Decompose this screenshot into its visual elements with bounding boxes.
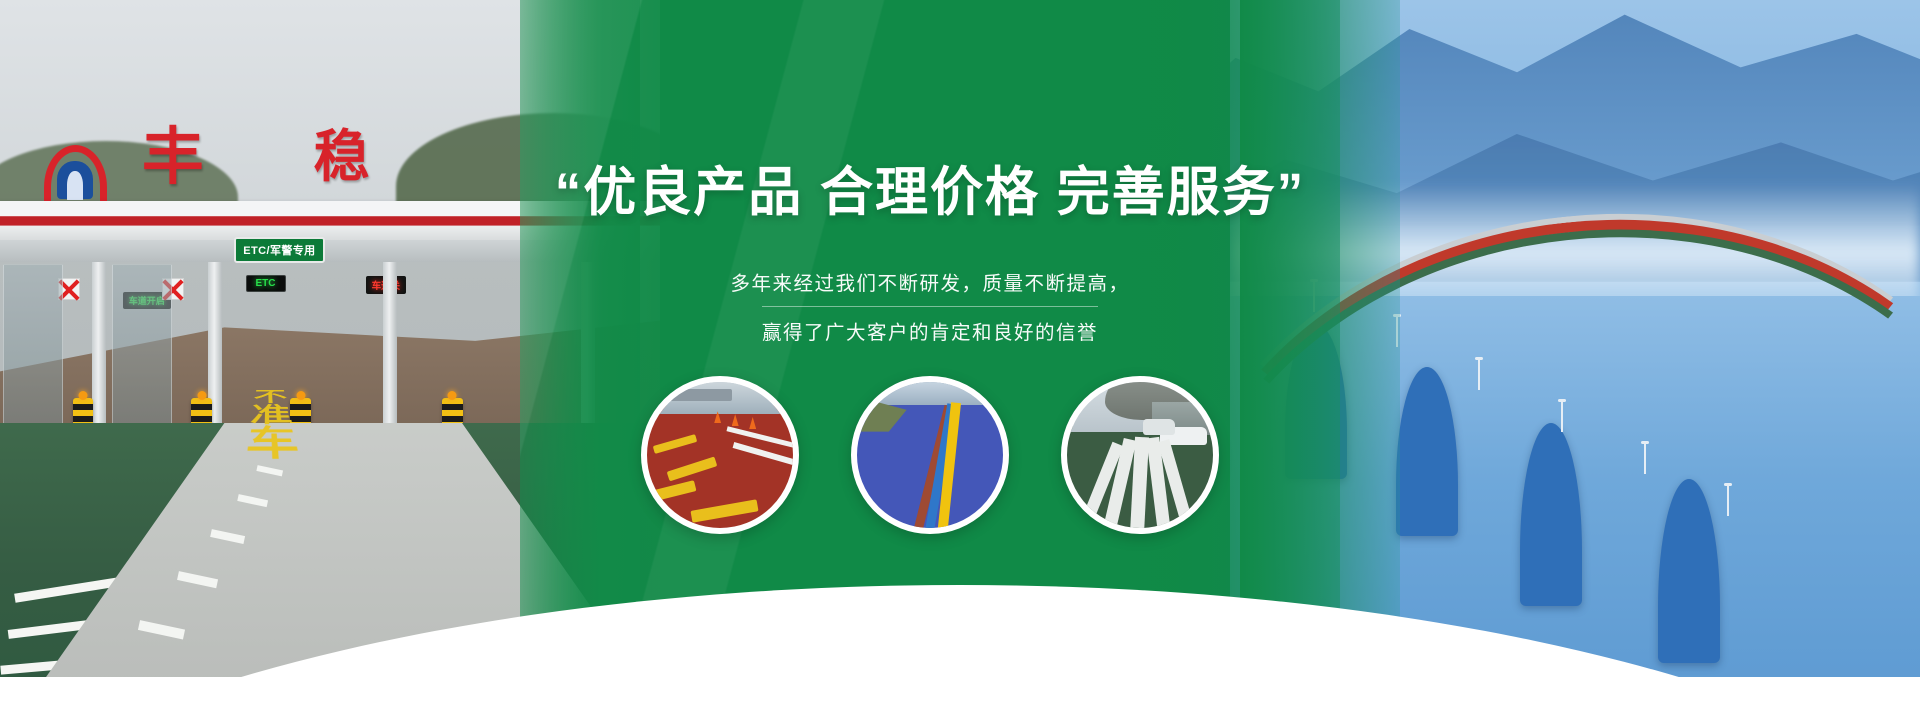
street-lamp [1478, 360, 1480, 390]
thumb1-yellow-marking [667, 456, 717, 481]
transport-group-logo-icon [44, 145, 107, 204]
roof-character-wen: 稳 [314, 130, 370, 186]
booth-pillar-3 [383, 262, 397, 445]
thumb3-bus [1143, 419, 1175, 435]
thumb1-cone [732, 414, 739, 426]
subtitle-divider [762, 306, 1098, 307]
thumb2-sky [857, 382, 1003, 405]
toll-booth-2 [112, 264, 171, 433]
thumb1-cone [749, 417, 756, 429]
feature-thumbnails [520, 376, 1340, 534]
thumb1-yellow-marking [641, 480, 697, 505]
thumbnail-blue-coloured-road[interactable] [851, 376, 1009, 534]
thumb1-yellow-marking [690, 499, 758, 522]
toll-booth-1 [3, 264, 62, 433]
thumbnail-red-anti-skid-pavement[interactable] [641, 376, 799, 534]
booth-pillar-1 [92, 262, 106, 445]
banner-subtitle-line-2: 赢得了广大客户的肯定和良好的信誉 [762, 316, 1098, 345]
led-display-etc: ETC [246, 275, 286, 292]
street-lamp [1644, 444, 1646, 474]
banner-subtitle-line-1: 多年来经过我们不断研发，质量不断提高， [730, 267, 1129, 296]
street-lamp [1727, 486, 1729, 516]
bottom-white-strip [0, 677, 1920, 705]
thumb1-yellow-marking [653, 435, 697, 455]
street-lamp [1561, 402, 1563, 432]
thumb1-gantry [656, 389, 732, 401]
hero-banner: 丰 稳 ETC/军警专用 ETC 车道关 车道开启 不准车 [0, 0, 1920, 705]
sign-etc-military-police: ETC/军警专用 [234, 237, 324, 263]
roof-character-feng: 丰 [142, 127, 204, 189]
thumbnail-green-crosswalk[interactable] [1061, 376, 1219, 534]
banner-headline: “优良产品 合理价格 完善服务” [555, 166, 1305, 219]
